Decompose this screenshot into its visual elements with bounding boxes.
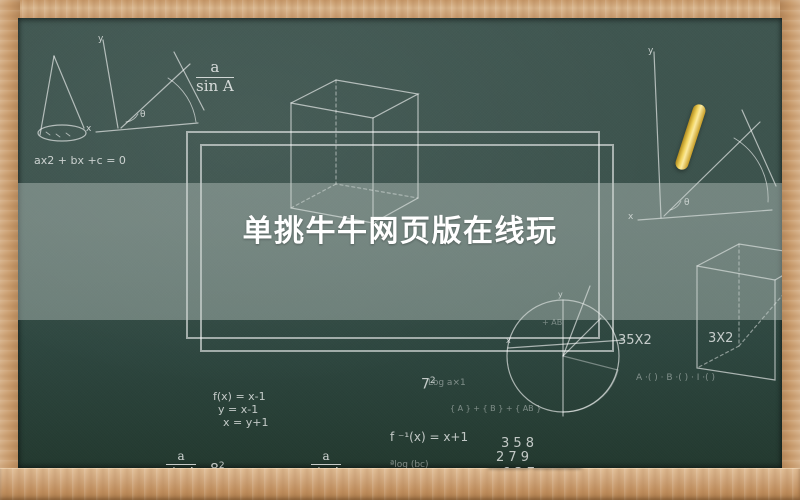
fraction-a-over-sin-a-topleft: a sin A — [196, 60, 234, 95]
title-overlay-band — [18, 183, 782, 320]
fraction-denominator: sin A — [166, 466, 196, 468]
page-title: 单挑牛牛网页版在线玩 — [18, 215, 782, 249]
fraction-numerator: a — [166, 450, 196, 463]
frame-right-edge — [780, 0, 800, 500]
chalkboard-banner: a sin A y x θ ax2 + bx +c = 0 y x θ f(x)… — [0, 0, 800, 500]
frame-left-edge — [0, 0, 20, 500]
fraction-numerator: a — [196, 60, 234, 76]
fraction-denominator: sin A — [311, 466, 341, 468]
frame-bottom-ledge — [0, 468, 800, 500]
fraction-a-over-sin-a-bottommid: a sin A — [311, 450, 341, 468]
fraction-numerator: a — [311, 450, 341, 463]
chalkboard-surface: a sin A y x θ ax2 + bx +c = 0 y x θ f(x)… — [18, 18, 782, 468]
fraction-a-over-sin-a-bottomleft: a sin A — [166, 450, 196, 468]
frame-top-edge — [0, 0, 800, 20]
fraction-denominator: sin A — [196, 79, 234, 95]
